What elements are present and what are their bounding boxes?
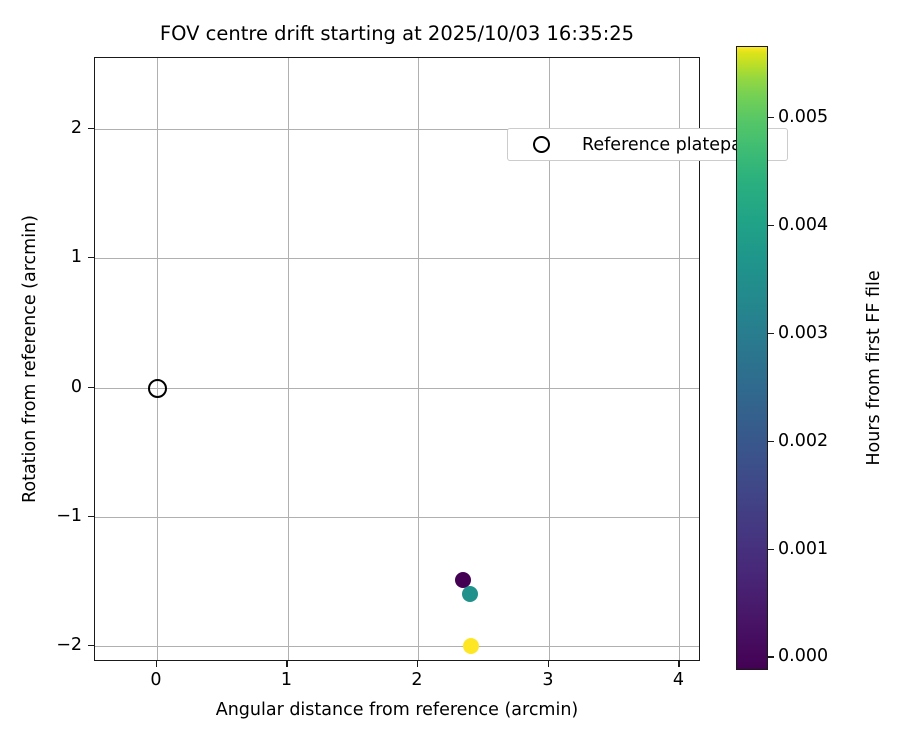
tick-x-3 <box>548 661 550 667</box>
ticklabel-x-2: 2 <box>387 670 447 690</box>
colorbar-tick-1 <box>768 549 774 551</box>
gridline-y-minus2 <box>95 646 699 647</box>
colorbar-tick-3 <box>768 333 774 335</box>
drift-point-3 <box>463 638 479 654</box>
gridline-x-0 <box>157 58 158 660</box>
y-axis-label: Rotation from reference (arcmin) <box>20 57 40 661</box>
colorbar-ticklabel-1: 0.001 <box>778 539 828 559</box>
tick-y-minus1 <box>88 516 94 518</box>
colorbar-ticklabel-0: 0.000 <box>778 646 828 666</box>
ticklabel-x-3: 3 <box>518 670 578 690</box>
plot-axes: Reference platepar <box>94 57 700 661</box>
tick-x-1 <box>286 661 288 667</box>
colorbar <box>736 46 768 670</box>
legend-open-circle-icon <box>533 136 550 153</box>
colorbar-ticklabel-5: 0.005 <box>778 107 828 127</box>
tick-y-2 <box>88 128 94 130</box>
tick-x-0 <box>156 661 158 667</box>
colorbar-ticklabel-4: 0.004 <box>778 215 828 235</box>
colorbar-label: Hours from first FF file <box>864 56 884 680</box>
tick-y-0 <box>88 387 94 389</box>
colorbar-tick-4 <box>768 225 774 227</box>
gridline-y-minus1 <box>95 517 699 518</box>
gridline-x-1 <box>288 58 289 660</box>
ticklabel-x-4: 4 <box>649 670 709 690</box>
ticklabel-x-1: 1 <box>257 670 317 690</box>
reference-platepar-marker <box>148 379 167 398</box>
colorbar-ticklabel-3: 0.003 <box>778 323 828 343</box>
tick-x-4 <box>678 661 680 667</box>
drift-point-2 <box>462 586 478 602</box>
tick-x-2 <box>417 661 419 667</box>
page-title: FOV centre drift starting at 2025/10/03 … <box>94 22 700 45</box>
x-axis-label: Angular distance from reference (arcmin) <box>94 700 700 720</box>
matplotlib-figure: FOV centre drift starting at 2025/10/03 … <box>0 0 900 750</box>
tick-y-minus2 <box>88 645 94 647</box>
colorbar-ticklabel-2: 0.002 <box>778 431 828 451</box>
gridline-y-1 <box>95 258 699 259</box>
colorbar-tick-0 <box>768 656 774 658</box>
colorbar-tick-5 <box>768 117 774 119</box>
gridline-x-2 <box>418 58 419 660</box>
gridline-y-0 <box>95 388 699 389</box>
colorbar-tick-2 <box>768 441 774 443</box>
tick-y-1 <box>88 257 94 259</box>
ticklabel-x-0: 0 <box>126 670 186 690</box>
legend-item-label: Reference platepar <box>582 135 749 155</box>
